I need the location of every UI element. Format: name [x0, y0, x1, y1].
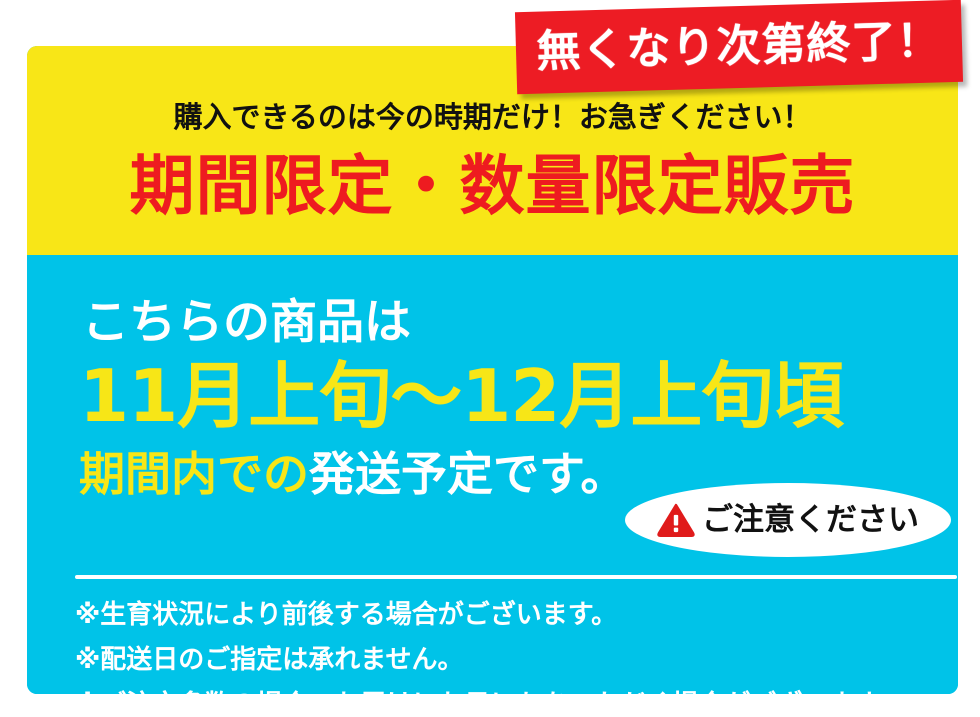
banner-card: 購入できるのは今の時期だけ！お急ぎください！ 期間限定・数量限定販売 ご注意くだ…	[27, 46, 958, 694]
product-intro-text: こちらの商品は	[82, 299, 411, 346]
note-item: ※ご注文多数の場合、お届けにお日にちをいただく場合がございます。	[75, 692, 904, 694]
warning-triangle-icon	[657, 503, 695, 537]
sold-out-ribbon: 無くなり次第終了！	[515, 0, 963, 94]
subheadline-text: 購入できるのは今の時期だけ！お急ぎください！	[27, 103, 958, 132]
shipping-period-text: 11月上旬〜12月上旬頃	[79, 360, 843, 432]
cyan-panel: ご注意ください こちらの商品は 11月上旬〜12月上旬頃 期間内での発送予定です…	[27, 255, 958, 694]
caution-badge-label: ご注意ください	[702, 505, 919, 536]
sold-out-ribbon-label: 無くなり次第終了！	[536, 19, 942, 74]
promotional-banner: 購入できるのは今の時期だけ！お急ぎください！ 期間限定・数量限定販売 ご注意くだ…	[0, 0, 980, 717]
section-divider	[75, 575, 957, 579]
note-item: ※配送日のご指定は承れません。	[75, 647, 464, 673]
shipping-statement-rest: 発送予定です。	[309, 447, 626, 501]
shipping-statement-highlight: 期間内での	[79, 447, 309, 501]
caution-badge: ご注意ください	[625, 483, 951, 557]
note-item: ※生育状況により前後する場合がございます。	[75, 602, 617, 628]
shipping-statement: 期間内での発送予定です。	[79, 451, 626, 497]
headline-text: 期間限定・数量限定販売	[27, 154, 958, 219]
